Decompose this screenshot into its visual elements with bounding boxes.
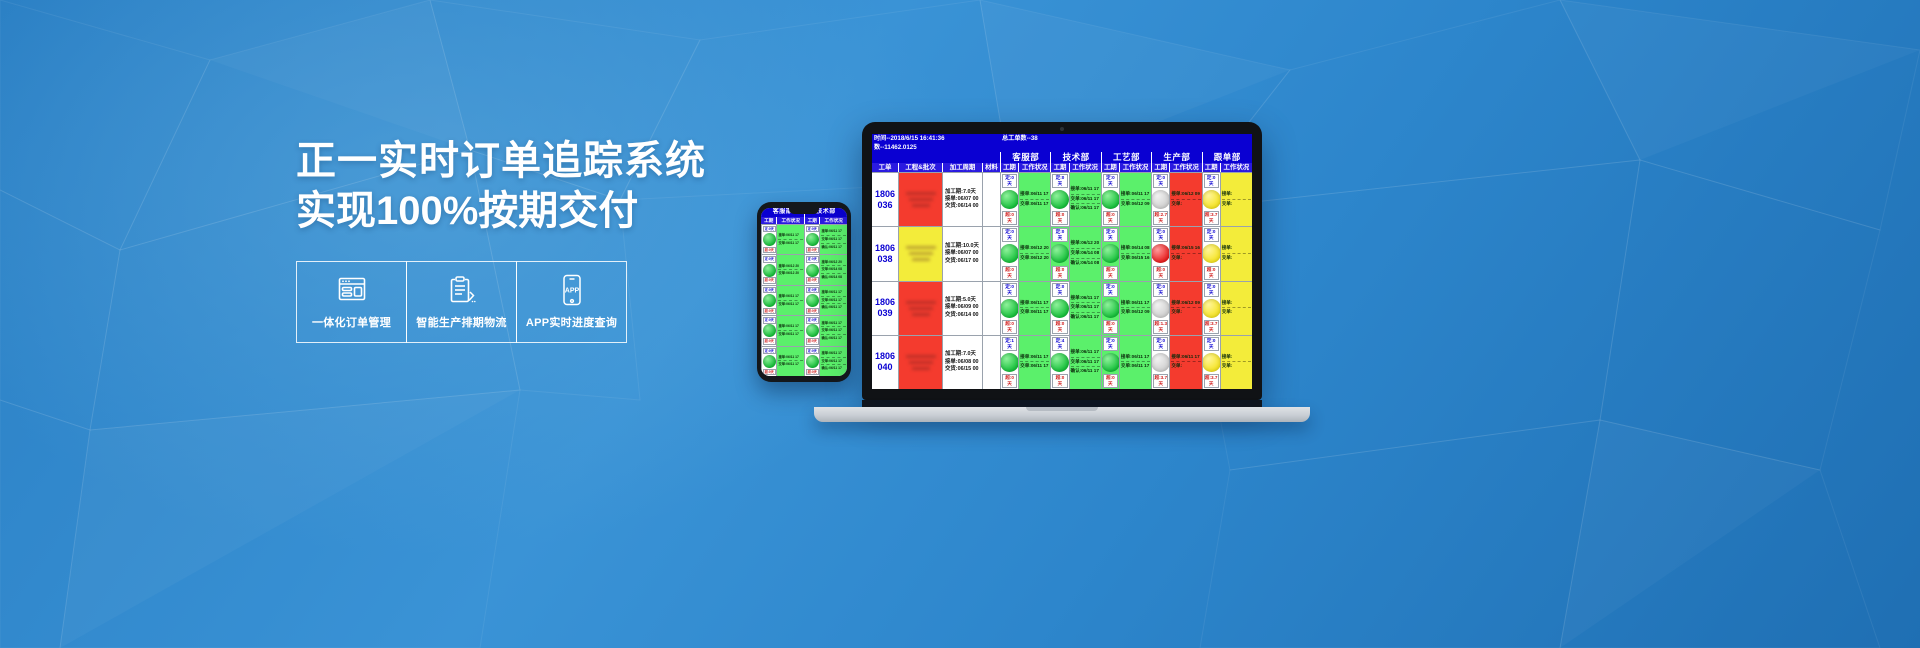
redacted-line: [912, 204, 930, 207]
lamp-wrap: [1000, 242, 1018, 265]
lamp-wrap: [1050, 188, 1068, 211]
column-header-加工周期: 加工周期: [942, 163, 982, 172]
status-line-1: 接单:06/11 17: [1171, 354, 1200, 363]
status-line-2: 交单:: [1171, 309, 1200, 317]
status-line-1: 接单:06/11 17: [821, 351, 846, 358]
cell-lamp-跟单部[interactable]: 定:0天超:3.7天: [1202, 282, 1220, 335]
redacted-line: [909, 307, 933, 310]
redacted-line: [912, 367, 930, 370]
redacted-line: [909, 252, 933, 255]
status-line-3: 确认:06/11 17: [821, 245, 846, 251]
status-lamp-yellow[interactable]: [1202, 190, 1220, 209]
status-line-2: 交单:06/11 17: [821, 328, 846, 335]
cell-material: [982, 336, 1000, 389]
over-days-badge: 超:0天: [763, 308, 776, 314]
status-line-1: 接单:06/11 17: [821, 290, 846, 297]
table-row[interactable]: 1806036加工期:7.0天接单:06/07 00交货:06/14 00定:0…: [872, 172, 1252, 226]
board-meta: 时间--2018/6/15 16:41:36总工单数--38: [872, 134, 1252, 143]
cell-lamp-工艺部[interactable]: 定:0天超:0天: [1101, 282, 1119, 335]
cell-status-客服部[interactable]: 接单:06/11 17交单:06/11 17: [1018, 282, 1050, 335]
cell-lamp-生产部[interactable]: 定:0天超:0天: [1151, 227, 1169, 280]
lamp-wrap: [1000, 188, 1018, 211]
cell-material: [982, 227, 1000, 280]
lamp-wrap: [1050, 297, 1068, 320]
remaining-days-badge: 定:0天: [1002, 228, 1017, 242]
cell-status-stage2[interactable]: 接单:06/11 17交单:06/11 17确认:06/11 17: [819, 286, 847, 315]
status-line-2: 交单:06/12 20: [778, 271, 803, 277]
cell-status-生产部[interactable]: 接单:06/12 09交单:: [1169, 173, 1201, 226]
cell-status-工艺部[interactable]: 接单:06/14 08交单:06/15 16: [1119, 227, 1151, 280]
cell-lamp-技术部[interactable]: 定:0天超:0天: [1050, 173, 1068, 226]
status-line-1: 接单:06/11 17: [1071, 349, 1100, 358]
status-lamp-green[interactable]: [1050, 244, 1068, 263]
cell-status-跟单部[interactable]: 接单:交单:: [1220, 336, 1252, 389]
cell-status-stage1[interactable]: 接单:06/11 17交单:06/11 17: [776, 225, 804, 254]
over-days-badge: 超:0天: [1002, 320, 1017, 334]
cell-lamp-stage1[interactable]: 定:0天超:0天: [761, 286, 776, 315]
over-days-badge: 超:2.7天: [1153, 211, 1168, 225]
status-lamp-green[interactable]: [1101, 190, 1119, 209]
status-line-1: 接单:: [1222, 354, 1251, 363]
department-header-row: 客服部技术部工艺部生产部跟单部: [872, 152, 1252, 163]
redacted-line: [906, 192, 936, 195]
status-line-1: 接单:06/12 20: [1071, 240, 1100, 249]
lamp-wrap: [806, 263, 819, 278]
status-lamp-green[interactable]: [763, 264, 776, 277]
lamp-wrap: [806, 232, 819, 247]
remaining-days-badge: 定:0天: [1153, 228, 1168, 242]
status-line-3: 确认:06/14 08: [1071, 260, 1100, 268]
lamp-wrap: [1151, 351, 1169, 374]
column-header-生产部-工作状况: 工作状况: [1169, 163, 1201, 172]
cell-lamp-stage2[interactable]: 定:0天超:0天: [804, 286, 819, 315]
cell-lamp-生产部[interactable]: 定:0天超:2.7天: [1151, 173, 1169, 226]
cell-lamp-stage1[interactable]: 定:0天超:0天: [761, 347, 776, 376]
cell-processing-period: 加工期:7.0天接单:06/07 00交货:06/14 00: [942, 173, 982, 226]
board-meta-time: 时间--2018/6/15 16:41:36: [874, 135, 1002, 143]
status-line-3: 确认:06/14 08: [821, 275, 846, 281]
phone-screen[interactable]: 客服部技术部工期工作状况工期工作状况定:0天超:0天接单:06/11 17交单:…: [761, 208, 847, 376]
column-header-工艺部-工期: 工期: [1101, 163, 1119, 172]
headline-line-2: 实现100%按期交付: [296, 186, 716, 236]
app-icon-text: APP: [564, 288, 579, 295]
cell-project-batch: [898, 282, 942, 335]
lamp-wrap: [1101, 297, 1119, 320]
redacted-line: [906, 301, 936, 304]
cell-project-batch: [898, 173, 942, 226]
over-days-badge: 超:3.7天: [1204, 320, 1219, 334]
feature-list: 一体化订单管理 智能生产排期物流 APP AP: [296, 261, 626, 343]
cell-lamp-生产部[interactable]: 定:0天超:3.7天: [1151, 336, 1169, 389]
table-row[interactable]: 定:0天超:0天接单:06/12 20交单:06/12 20定:0天超:0天接单…: [761, 254, 847, 284]
board-meta-number: 数--11462.0125: [874, 144, 1002, 152]
cell-material: [982, 282, 1000, 335]
cell-status-工艺部[interactable]: 接单:06/11 17交单:06/11 17: [1119, 336, 1151, 389]
lamp-wrap: [1000, 351, 1018, 374]
project-batch-redacted: [899, 336, 942, 389]
over-days-badge: 超:0天: [1153, 266, 1168, 280]
cell-order-number: 1806040: [872, 336, 898, 389]
lamp-wrap: [1202, 188, 1220, 211]
column-header-技术部-工作状况: 工作状况: [1069, 163, 1101, 172]
lamp-wrap: [1101, 351, 1119, 374]
cell-status-工艺部[interactable]: 接单:06/11 17交单:06/12 09: [1119, 282, 1151, 335]
over-days-badge: 超:0天: [806, 308, 819, 314]
remaining-days-badge: 定:0天: [1103, 337, 1118, 351]
phone-mockup: 客服部技术部工期工作状况工期工作状况定:0天超:0天接单:06/11 17交单:…: [757, 202, 851, 382]
cell-lamp-技术部[interactable]: 定:4天超:0天: [1050, 336, 1068, 389]
period-line-1: 加工期:7.0天: [945, 189, 980, 196]
redacted-line: [906, 246, 936, 249]
over-days-badge: 超:0天: [1002, 211, 1017, 225]
status-lamp-green[interactable]: [1101, 299, 1119, 318]
cell-lamp-工艺部[interactable]: 定:0天超:0天: [1101, 336, 1119, 389]
status-lamp-green[interactable]: [763, 233, 776, 246]
status-lamp-green[interactable]: [1050, 190, 1068, 209]
cell-lamp-技术部[interactable]: 定:0天超:0天: [1050, 227, 1068, 280]
lamp-wrap: [763, 293, 776, 308]
cell-status-跟单部[interactable]: 接单:交单:: [1220, 282, 1252, 335]
cell-lamp-跟单部[interactable]: 定:0天超:3.7天: [1202, 336, 1220, 389]
status-line-3: 确认:06/11 17: [1071, 368, 1100, 376]
cell-lamp-stage2[interactable]: 定:0天超:0天: [804, 255, 819, 284]
status-line-2: 交单:06/11 17: [778, 362, 803, 368]
status-line-1: 接单:06/11 17: [821, 229, 846, 236]
laptop-lid: 时间--2018/6/15 16:41:36总工单数--38数--11462.0…: [862, 122, 1262, 400]
column-header-技术部-工期: 工期: [1050, 163, 1068, 172]
status-lamp-green[interactable]: [763, 324, 776, 337]
over-days-badge: 超:0天: [763, 369, 776, 375]
project-batch-redacted: [899, 227, 942, 280]
table-row[interactable]: 定:0天超:0天接单:06/11 17交单:06/11 17定:0天超:0天接单…: [761, 315, 847, 345]
status-line-3: 确认:06/11 17: [821, 305, 846, 311]
cell-status-客服部[interactable]: 接单:06/11 17交单:06/11 17: [1018, 336, 1050, 389]
status-line-1: 接单:: [1222, 191, 1251, 200]
period-line-3: 交货:06/14 00: [945, 312, 980, 319]
laptop-screen[interactable]: 时间--2018/6/15 16:41:36总工单数--38数--11462.0…: [872, 134, 1252, 389]
status-line-2: 交单:06/11 17: [821, 359, 846, 366]
order-number-line1: 1806: [875, 351, 895, 362]
redacted-line: [912, 313, 930, 316]
status-line-1: 接单:06/11 17: [1071, 295, 1100, 304]
cell-status-stage1[interactable]: 接单:06/11 17交单:06/11 17: [776, 286, 804, 315]
status-line-2: 交单:06/11 17: [778, 332, 803, 338]
status-lamp-green[interactable]: [1050, 353, 1068, 372]
redacted-line: [909, 198, 933, 201]
table-row[interactable]: 定:0天超:0天接单:06/11 17交单:06/11 17定:0天超:0天接单…: [761, 224, 847, 254]
cell-status-stage2[interactable]: 接单:06/11 17交单:06/11 17确认:06/11 17: [819, 347, 847, 376]
department-header-1: 客服部: [1000, 152, 1050, 163]
status-line-3: 确认:06/11 17: [821, 336, 846, 342]
over-days-badge: 超:0天: [763, 338, 776, 344]
status-lamp-green[interactable]: [1101, 353, 1119, 372]
table-row[interactable]: 定:0天超:0天接单:06/11 17交单:06/11 17定:0天超:0天接单…: [761, 346, 847, 376]
cell-status-stage1[interactable]: 接单:06/12 20交单:06/12 20: [776, 255, 804, 284]
column-header-工艺部-工作状况: 工作状况: [1119, 163, 1151, 172]
status-line-1: 接单:06/12 20: [1020, 245, 1049, 254]
department-header-3: 工艺部: [1101, 152, 1151, 163]
remaining-days-badge: 定:0天: [1103, 174, 1118, 188]
status-line-2: 交单:06/11 17: [778, 241, 803, 247]
status-line-2: 交单:06/14 08: [1071, 250, 1100, 259]
cell-lamp-stage1[interactable]: 定:0天超:0天: [761, 316, 776, 345]
status-lamp-green[interactable]: [806, 233, 819, 246]
over-days-badge: 超:0天: [1103, 374, 1118, 388]
status-lamp-yellow[interactable]: [1202, 299, 1220, 318]
cell-lamp-客服部[interactable]: 定:0天超:0天: [1000, 282, 1018, 335]
feature-card-order-management[interactable]: 一体化订单管理: [296, 261, 407, 343]
status-lamp-green[interactable]: [1000, 190, 1018, 209]
column-header-材料: 材料: [982, 163, 1000, 172]
cell-lamp-stage1[interactable]: 定:0天超:0天: [761, 255, 776, 284]
table-row[interactable]: 定:0天超:0天接单:06/11 17交单:06/11 17定:0天超:0天接单…: [761, 285, 847, 315]
status-line-1: 接单:06/11 17: [778, 233, 803, 240]
cell-order-number: 1806036: [872, 173, 898, 226]
cell-lamp-客服部[interactable]: 定:0天超:0天: [1000, 173, 1018, 226]
feature-card-app-progress[interactable]: APP APP实时进度查询: [516, 261, 627, 343]
remaining-days-badge: 定:1天: [1002, 337, 1017, 351]
phone-body: 客服部技术部工期工作状况工期工作状况定:0天超:0天接单:06/11 17交单:…: [757, 202, 851, 382]
column-header-技术部-工作状况: 工作状况: [819, 217, 847, 224]
base-columns-spacer: [872, 152, 1000, 163]
remaining-days-badge: 定:0天: [1052, 283, 1067, 297]
over-days-badge: 超:0天: [763, 277, 776, 283]
lamp-wrap: [1202, 297, 1220, 320]
status-line-1: 接单:06/11 17: [1121, 300, 1150, 309]
column-header-工单: 工单: [872, 163, 898, 172]
status-line-2: 交单:06/11 17: [821, 237, 846, 244]
status-lamp-gray[interactable]: [1151, 299, 1169, 318]
headline-block: 正一实时订单追踪系统 实现100%按期交付: [296, 136, 716, 236]
feature-label: APP实时进度查询: [526, 314, 617, 330]
status-line-1: 接单:06/11 17: [1071, 186, 1100, 195]
status-line-2: 交单:06/11 17: [1071, 304, 1100, 313]
status-lamp-green[interactable]: [806, 294, 819, 307]
remaining-days-badge: 定:0天: [1002, 283, 1017, 297]
lamp-wrap: [1202, 242, 1220, 265]
lamp-wrap: [1050, 242, 1068, 265]
remaining-days-badge: 定:0天: [1103, 228, 1118, 242]
status-line-1: 接单:06/11 17: [1020, 354, 1049, 363]
order-number-line2: 039: [877, 308, 892, 319]
cell-lamp-工艺部[interactable]: 定:0天超:0天: [1101, 227, 1119, 280]
order-number-line2: 038: [877, 254, 892, 265]
status-line-1: 接单:06/12 09: [1171, 191, 1200, 200]
status-lamp-red[interactable]: [1151, 244, 1169, 263]
cell-processing-period: 加工期:7.0天接单:06/08 00交货:06/15 00: [942, 336, 982, 389]
feature-card-production-scheduling[interactable]: 智能生产排期物流: [406, 261, 517, 343]
status-line-2: 交单:06/14 08: [821, 267, 846, 274]
board-rows: 定:0天超:0天接单:06/11 17交单:06/11 17定:0天超:0天接单…: [761, 224, 847, 376]
order-number-line2: 040: [877, 362, 892, 373]
cell-status-客服部[interactable]: 接单:06/11 17交单:06/11 17: [1018, 173, 1050, 226]
board-rows: 1806036加工期:7.0天接单:06/07 00交货:06/14 00定:0…: [872, 172, 1252, 389]
status-lamp-green[interactable]: [1000, 353, 1018, 372]
status-lamp-green[interactable]: [806, 355, 819, 368]
cell-status-技术部[interactable]: 接单:06/11 17交单:06/11 17确认:06/11 17: [1069, 173, 1101, 226]
cell-status-生产部[interactable]: 接单:06/15 16交单:: [1169, 227, 1201, 280]
status-line-2: 交单:06/11 17: [1020, 309, 1049, 317]
lamp-wrap: [1151, 188, 1169, 211]
status-lamp-yellow[interactable]: [1202, 244, 1220, 263]
laptop-mockup: 时间--2018/6/15 16:41:36总工单数--38数--11462.0…: [862, 122, 1310, 422]
cell-status-stage2[interactable]: 接单:06/11 17交单:06/11 17确认:06/11 17: [819, 225, 847, 254]
status-line-2: 交单:: [1171, 201, 1200, 209]
cell-status-stage1[interactable]: 接单:06/11 17交单:06/11 17: [776, 316, 804, 345]
over-days-badge: 超:0天: [806, 338, 819, 344]
lamp-wrap: [806, 354, 819, 369]
status-lamp-green[interactable]: [806, 324, 819, 337]
feature-label: 智能生产排期物流: [416, 314, 506, 330]
cell-status-生产部[interactable]: 接单:06/11 17交单:: [1169, 336, 1201, 389]
cell-lamp-stage1[interactable]: 定:0天超:0天: [761, 225, 776, 254]
status-lamp-green[interactable]: [1050, 299, 1068, 318]
status-lamp-gray[interactable]: [1151, 353, 1169, 372]
cell-lamp-stage2[interactable]: 定:0天超:0天: [804, 347, 819, 376]
cell-processing-period: 加工期:5.0天接单:06/09 00交货:06/14 00: [942, 282, 982, 335]
status-line-1: 接单:06/12 09: [1171, 300, 1200, 309]
cell-project-batch: [898, 336, 942, 389]
column-header-row: 工单工程&批次加工周期材料工期工作状况工期工作状况工期工作状况工期工作状况工期工…: [872, 163, 1252, 172]
over-days-badge: 超:0天: [1052, 374, 1067, 388]
cell-lamp-stage2[interactable]: 定:0天超:0天: [804, 316, 819, 345]
column-header-工程&批次: 工程&批次: [898, 163, 942, 172]
status-lamp-green[interactable]: [1000, 299, 1018, 318]
lamp-wrap: [763, 232, 776, 247]
column-header-row: 工期工作状况工期工作状况: [761, 217, 847, 224]
cell-order-number: 1806038: [872, 227, 898, 280]
period-line-2: 接单:06/09 00: [945, 304, 980, 311]
over-days-badge: 超:0天: [1002, 374, 1017, 388]
status-lamp-green[interactable]: [763, 294, 776, 307]
status-line-1: 接单:06/11 17: [778, 324, 803, 331]
status-line-3: 确认:06/11 17: [821, 366, 846, 372]
status-line-2: 交单:06/12 09: [1121, 201, 1150, 209]
table-row[interactable]: 1806038加工期:10.0天接单:06/07 00交货:06/17 00定:…: [872, 226, 1252, 280]
department-header-2: 技术部: [1050, 152, 1100, 163]
status-line-2: 交单:06/11 17: [1071, 196, 1100, 205]
status-line-1: 接单:: [1222, 245, 1251, 254]
column-header-客服部-工作状况: 工作状况: [776, 217, 804, 224]
table-row[interactable]: 1806040加工期:7.0天接单:06/08 00交货:06/15 00定:1…: [872, 335, 1252, 389]
order-number-line1: 1806: [875, 243, 895, 254]
column-header-技术部-工期: 工期: [804, 217, 819, 224]
over-days-badge: 超:0天: [806, 277, 819, 283]
column-header-客服部-工期: 工期: [1000, 163, 1018, 172]
cell-status-技术部[interactable]: 接单:06/11 17交单:06/11 17确认:06/11 17: [1069, 336, 1101, 389]
erp-board-desktop[interactable]: 时间--2018/6/15 16:41:36总工单数--38数--11462.0…: [872, 134, 1252, 389]
lamp-wrap: [1000, 297, 1018, 320]
cell-lamp-生产部[interactable]: 定:0天超:1.3天: [1151, 282, 1169, 335]
lamp-wrap: [1101, 188, 1119, 211]
laptop-base: [814, 407, 1310, 422]
cell-status-技术部[interactable]: 接单:06/12 20交单:06/14 08确认:06/14 08: [1069, 227, 1101, 280]
status-line-2: 交单:: [1171, 255, 1200, 263]
period-line-3: 交货:06/15 00: [945, 366, 980, 373]
redacted-line: [909, 361, 933, 364]
cell-status-工艺部[interactable]: 接单:06/11 17交单:06/12 09: [1119, 173, 1151, 226]
column-header-生产部-工期: 工期: [1151, 163, 1169, 172]
clipboard-icon: [447, 273, 477, 307]
cell-lamp-跟单部[interactable]: 定:0天超:0天: [1202, 227, 1220, 280]
cell-status-stage2[interactable]: 接单:06/11 17交单:06/11 17确认:06/11 17: [819, 316, 847, 345]
lamp-wrap: [1101, 242, 1119, 265]
over-days-badge: 超:3.7天: [1153, 374, 1168, 388]
cell-lamp-stage2[interactable]: 定:0天超:0天: [804, 225, 819, 254]
lamp-wrap: [763, 354, 776, 369]
status-line-1: 接单:06/11 17: [1020, 191, 1049, 200]
lamp-wrap: [1202, 351, 1220, 374]
status-lamp-green[interactable]: [806, 264, 819, 277]
column-header-客服部-工作状况: 工作状况: [1018, 163, 1050, 172]
over-days-badge: 超:0天: [806, 369, 819, 375]
erp-board-mobile[interactable]: 客服部技术部工期工作状况工期工作状况定:0天超:0天接单:06/11 17交单:…: [761, 208, 847, 376]
cell-status-技术部[interactable]: 接单:06/11 17交单:06/11 17确认:06/11 17: [1069, 282, 1101, 335]
cell-status-生产部[interactable]: 接单:06/12 09交单:: [1169, 282, 1201, 335]
status-lamp-green[interactable]: [1101, 244, 1119, 263]
table-row[interactable]: 1806039加工期:5.0天接单:06/09 00交货:06/14 00定:0…: [872, 281, 1252, 335]
status-line-1: 接单:06/11 17: [1121, 191, 1150, 200]
status-line-1: 接单:06/14 08: [1121, 245, 1150, 254]
cell-status-stage1[interactable]: 接单:06/11 17交单:06/11 17: [776, 347, 804, 376]
over-days-badge: 超:0天: [1103, 266, 1118, 280]
status-line-2: 交单:06/12 20: [1020, 255, 1049, 263]
over-days-badge: 超:0天: [1052, 320, 1067, 334]
lamp-wrap: [1151, 297, 1169, 320]
cell-lamp-工艺部[interactable]: 定:0天超:0天: [1101, 173, 1119, 226]
cell-status-stage2[interactable]: 接单:06/12 20交单:06/14 08确认:06/14 08: [819, 255, 847, 284]
cell-status-客服部[interactable]: 接单:06/12 20交单:06/12 20: [1018, 227, 1050, 280]
remaining-days-badge: 定:0天: [1204, 228, 1219, 242]
remaining-days-badge: 定:0天: [1153, 174, 1168, 188]
project-batch-redacted: [899, 173, 942, 226]
cell-lamp-客服部[interactable]: 定:0天超:0天: [1000, 227, 1018, 280]
cell-status-跟单部[interactable]: 接单:交单:: [1220, 173, 1252, 226]
lamp-wrap: [1050, 351, 1068, 374]
cell-lamp-跟单部[interactable]: 定:0天超:3.7天: [1202, 173, 1220, 226]
remaining-days-badge: 定:0天: [1002, 174, 1017, 188]
column-header-客服部-工期: 工期: [761, 217, 776, 224]
period-line-2: 接单:06/08 00: [945, 359, 980, 366]
status-lamp-green[interactable]: [1000, 244, 1018, 263]
column-header-跟单部-工期: 工期: [1202, 163, 1220, 172]
board-meta-total: 总工单数--38: [1002, 135, 1038, 143]
status-line-2: 交单:06/11 17: [1020, 201, 1049, 209]
status-line-1: 接单:06/11 17: [1020, 300, 1049, 309]
cell-status-跟单部[interactable]: 接单:交单:: [1220, 227, 1252, 280]
cell-order-number: 1806039: [872, 282, 898, 335]
order-number-line1: 1806: [875, 297, 895, 308]
status-line-1: 接单:06/12 20: [778, 264, 803, 271]
status-lamp-gray[interactable]: [1151, 190, 1169, 209]
status-lamp-green[interactable]: [763, 355, 776, 368]
cell-lamp-客服部[interactable]: 定:1天超:0天: [1000, 336, 1018, 389]
dashboard-icon: [336, 273, 368, 307]
laptop-hinge: [862, 400, 1262, 407]
period-line-1: 加工期:7.0天: [945, 351, 980, 358]
lamp-wrap: [763, 263, 776, 278]
over-days-badge: 超:0天: [1103, 211, 1118, 225]
remaining-days-badge: 定:0天: [1103, 283, 1118, 297]
headline-line-1: 正一实时订单追踪系统: [296, 136, 716, 186]
board-meta-2: 数--11462.0125: [872, 143, 1252, 152]
project-batch-redacted: [899, 282, 942, 335]
cell-lamp-技术部[interactable]: 定:0天超:0天: [1050, 282, 1068, 335]
status-lamp-yellow[interactable]: [1202, 353, 1220, 372]
over-days-badge: 超:0天: [806, 247, 819, 253]
over-days-badge: 超:0天: [1204, 266, 1219, 280]
lamp-wrap: [806, 324, 819, 339]
